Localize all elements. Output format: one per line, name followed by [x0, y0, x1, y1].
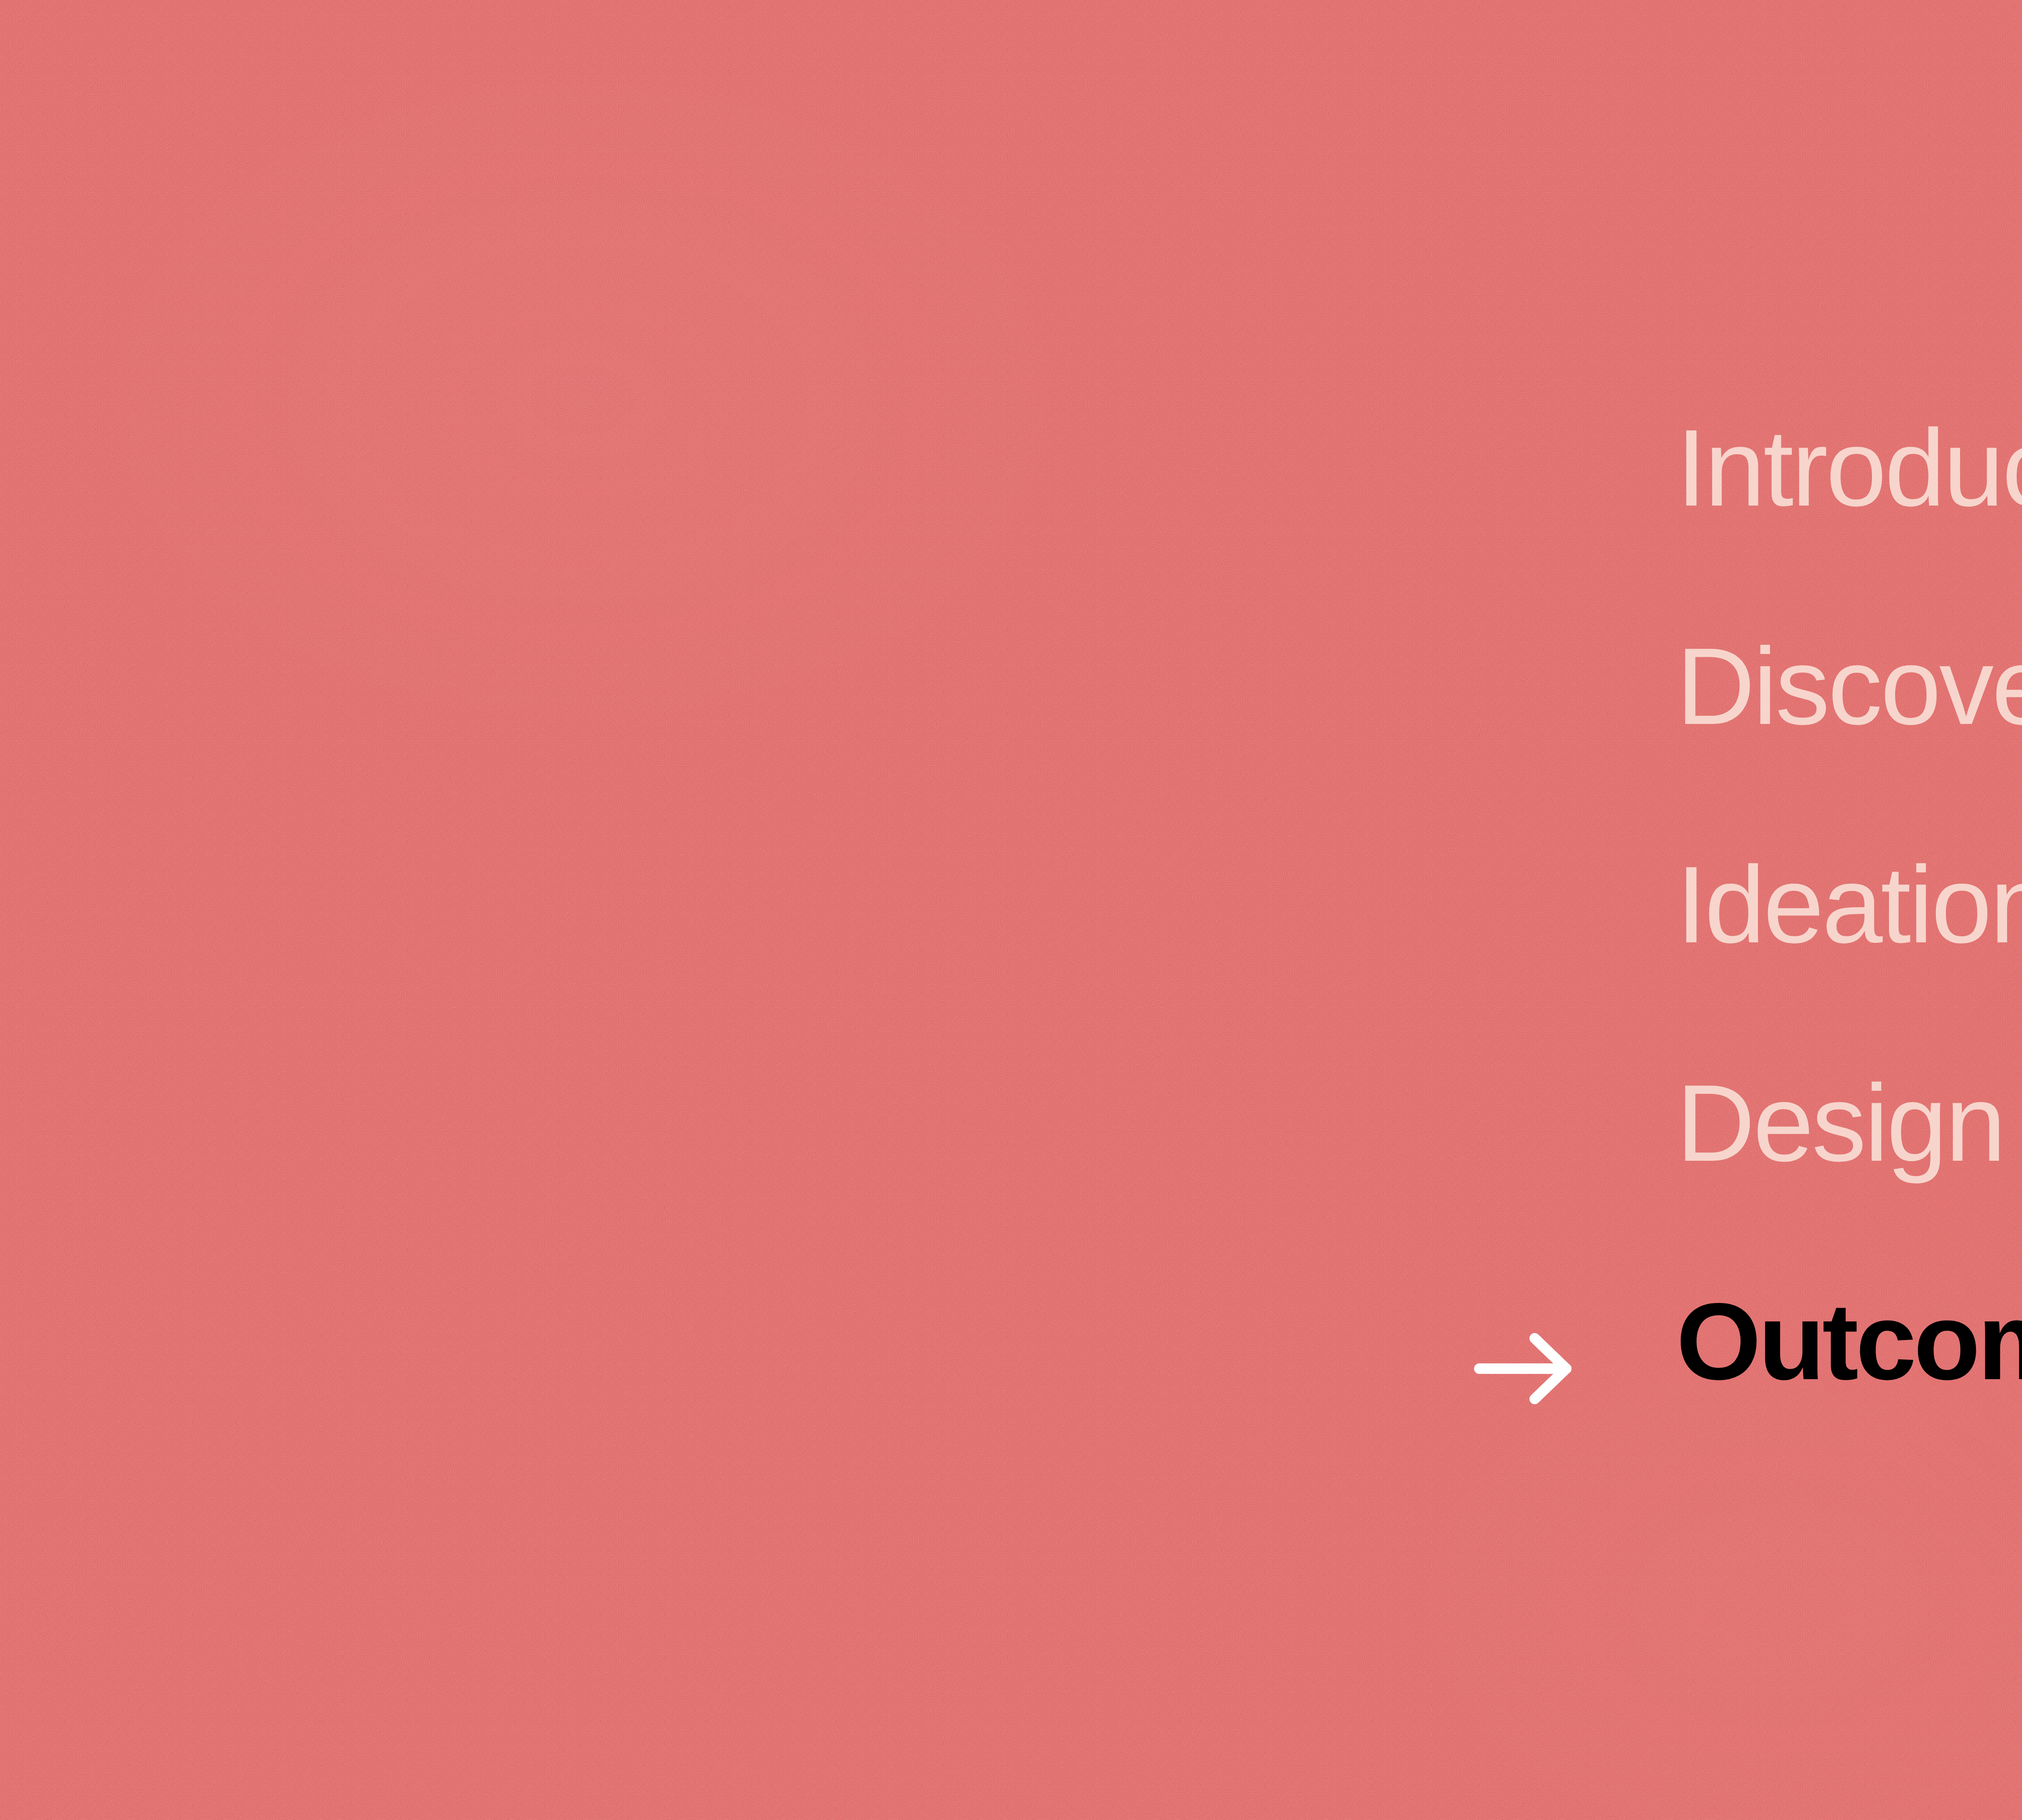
section-navigation: Introduction Discovery Ideation Design O… — [1676, 417, 2022, 1509]
nav-item-ideation[interactable]: Ideation — [1676, 853, 2022, 1072]
nav-item-outcome[interactable]: Outcome — [1676, 1290, 2022, 1509]
nav-item-introduction[interactable]: Introduction — [1676, 417, 2022, 635]
nav-item-design[interactable]: Design — [1676, 1072, 2022, 1290]
nav-item-label: Outcome — [1676, 1290, 2022, 1393]
nav-item-label: Discovery — [1676, 635, 2022, 738]
arrow-right-icon — [1474, 1332, 1575, 1405]
nav-item-label: Design — [1676, 1072, 2004, 1175]
nav-item-label: Introduction — [1676, 417, 2022, 519]
nav-item-label: Ideation — [1676, 853, 2022, 956]
nav-item-discovery[interactable]: Discovery — [1676, 635, 2022, 853]
slide-canvas: Introduction Discovery Ideation Design O… — [0, 0, 2022, 1820]
